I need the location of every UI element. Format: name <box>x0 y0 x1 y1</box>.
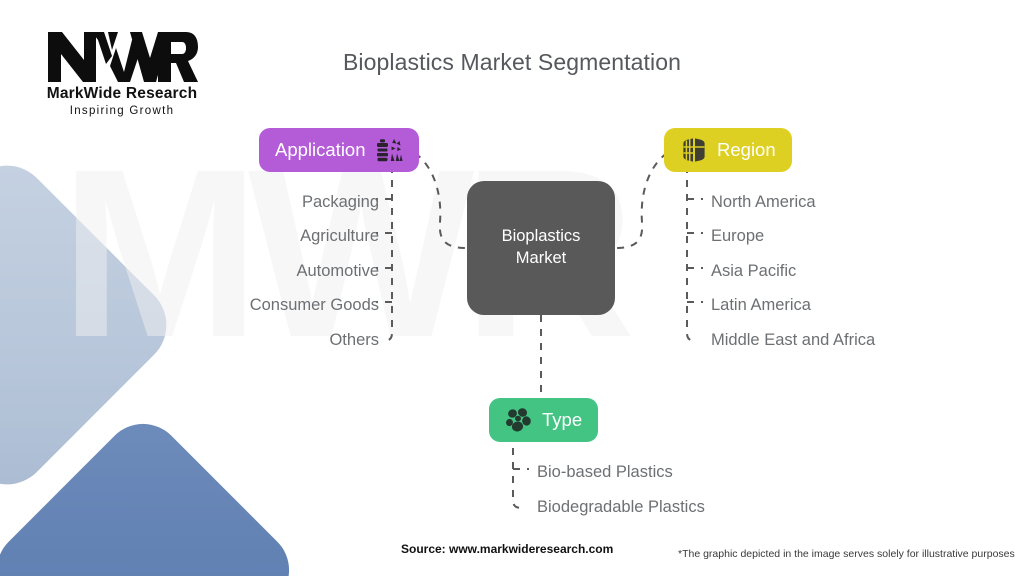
list-item: Asia Pacific <box>711 254 875 288</box>
list-item: Packaging <box>250 185 379 219</box>
list-item: Bio-based Plastics <box>537 455 705 490</box>
molecule-cluster-icon <box>505 406 533 434</box>
source-text: Source: www.markwideresearch.com <box>401 542 613 556</box>
connector-region-to-center <box>615 153 667 248</box>
spine-type <box>513 434 522 508</box>
center-node-line2: Market <box>516 249 566 267</box>
list-item: Biodegradable Plastics <box>537 490 705 525</box>
list-item: Automotive <box>250 254 379 288</box>
category-badge-region[interactable]: Region <box>664 128 792 172</box>
badge-label-type: Type <box>542 409 582 431</box>
globe-grid-icon <box>680 136 708 164</box>
list-item: Agriculture <box>250 219 379 253</box>
connector-application-to-center <box>415 153 467 248</box>
list-item: North America <box>711 185 875 219</box>
item-list-region: North America Europe Asia Pacific Latin … <box>711 185 875 357</box>
list-item: Latin America <box>711 288 875 322</box>
item-list-application: Packaging Agriculture Automotive Consume… <box>250 185 379 357</box>
disclaimer-text: *The graphic depicted in the image serve… <box>678 548 1015 560</box>
center-node-bioplastics-market: Bioplastics Market <box>467 181 615 315</box>
center-node-line1: Bioplastics <box>502 227 581 245</box>
badge-label-region: Region <box>717 139 776 161</box>
list-item: Others <box>250 323 379 357</box>
list-item: Middle East and Africa <box>711 323 875 357</box>
list-item: Europe <box>711 219 875 253</box>
item-list-type: Bio-based Plastics Biodegradable Plastic… <box>537 455 705 524</box>
list-item: Consumer Goods <box>250 288 379 322</box>
infographic-canvas: MWR MarkWide Research Inspiring Growth B… <box>0 0 1024 576</box>
category-badge-application[interactable]: Application <box>259 128 419 172</box>
category-badge-type[interactable]: Type <box>489 398 598 442</box>
badge-label-application: Application <box>275 139 366 161</box>
jar-plant-icon <box>375 136 403 164</box>
